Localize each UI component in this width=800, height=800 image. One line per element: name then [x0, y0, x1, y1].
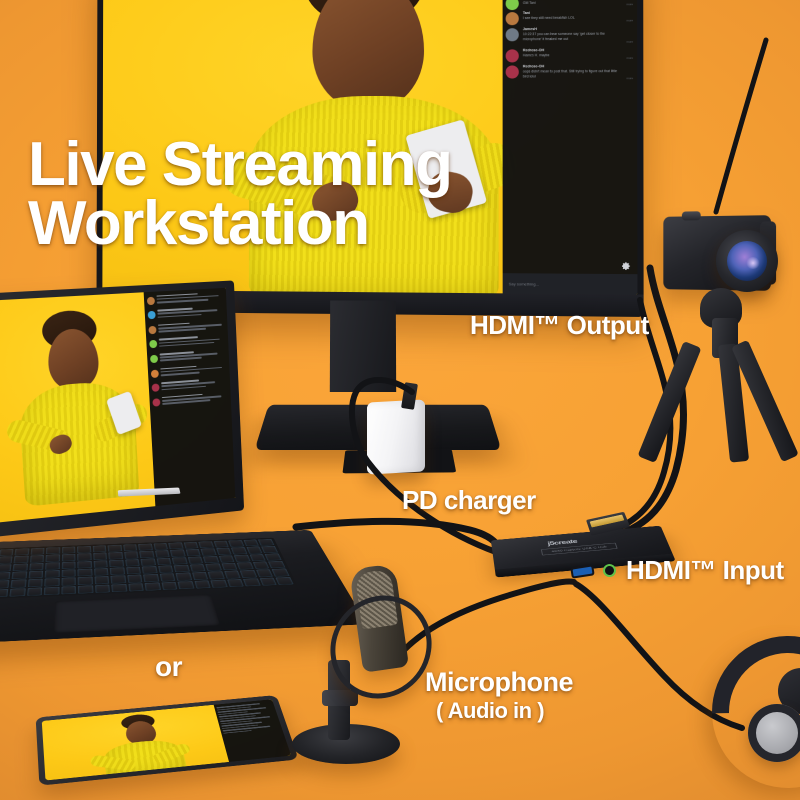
laptop-base: [0, 530, 367, 644]
chat-message: Tani I see they still need breakfish LOL…: [503, 8, 638, 25]
laptop-keyboard[interactable]: [0, 538, 297, 600]
smartphone: [36, 695, 299, 786]
headline-line-2: Workstation: [28, 195, 451, 254]
page-title: Live Streaming Workstation: [28, 136, 451, 254]
chat-message: Redrose-OH oops didn't mean to post that…: [503, 61, 638, 82]
callout-hdmi-output: HDMI™ Output: [470, 312, 649, 339]
hdmi-gold-contacts: [590, 515, 625, 528]
lens-highlight: [746, 257, 760, 269]
cable-laptop-to-dock: [296, 521, 498, 546]
tripod-leg: [637, 341, 701, 463]
pd-charger-device: [367, 399, 425, 474]
chat-text: 10:22:37 you can hear someone say 'get c…: [523, 32, 631, 43]
headphones-earcup-near: [748, 704, 800, 762]
streamer-head: [312, 0, 424, 110]
chat-avatar: [150, 355, 158, 363]
chat-meta: more: [627, 56, 634, 60]
microphone-collar: [322, 690, 358, 706]
chat-input-field[interactable]: Say something...: [503, 273, 638, 294]
chat-message: JamesH 10:22:37 you can hear someone say…: [503, 24, 638, 46]
laptop-chat-overlay[interactable]: [144, 288, 235, 506]
monitor-chat-overlay[interactable]: JaniBop last year B6 and B7 liked to han…: [503, 0, 638, 295]
chat-text: Hames H. maybe: [523, 53, 631, 58]
monitor-stand-neck: [330, 301, 396, 392]
chat-text: I see they still need breakfish LOL: [523, 16, 631, 22]
chat-input-placeholder: Say something...: [509, 281, 539, 286]
chat-avatar: [151, 369, 159, 377]
callout-hdmi-input: HDMI™ Input: [626, 557, 784, 584]
chat-message: Redrose-OH Hames H. maybe more: [503, 45, 638, 62]
camera-mode-dial[interactable]: [682, 211, 701, 220]
usb-3-port[interactable]: [573, 567, 593, 577]
chat-meta: more: [626, 40, 633, 44]
headline-line-1: Live Streaming: [28, 136, 451, 195]
chat-avatar: [153, 398, 161, 406]
gear-icon[interactable]: [620, 261, 631, 272]
lens-glass: [727, 241, 767, 281]
cable-monitor-rear: [716, 40, 766, 212]
chat-avatar: [152, 384, 160, 392]
chat-meta: more: [626, 3, 633, 7]
camera-lens: [716, 230, 778, 292]
chat-avatar: [506, 28, 519, 41]
chat-avatar: [148, 311, 156, 319]
laptop-trackpad[interactable]: [54, 595, 220, 633]
chat-avatar: [147, 296, 155, 304]
j5create-logo: j5create: [547, 538, 578, 546]
chat-text: oops didn't mean to post that. Still try…: [523, 69, 631, 79]
chat-avatar: [506, 65, 519, 78]
chat-avatar: [150, 340, 158, 348]
chat-meta: more: [626, 19, 633, 23]
laptop-lid: [0, 280, 244, 537]
callout-pd-charger: PD charger: [402, 487, 536, 514]
laptop-screen: [0, 288, 235, 523]
chat-text: GM Tani: [523, 0, 631, 5]
audio-port[interactable]: [604, 565, 614, 575]
callout-microphone-sub: ( Audio in ): [436, 700, 544, 723]
chat-avatar: [149, 326, 157, 334]
callout-microphone: Microphone: [425, 668, 573, 696]
callout-or: or: [155, 652, 182, 681]
chat-meta: more: [627, 77, 634, 81]
phone-screen: [42, 699, 291, 780]
product-marketing-image: JaniBop last year B6 and B7 liked to han…: [0, 0, 800, 800]
